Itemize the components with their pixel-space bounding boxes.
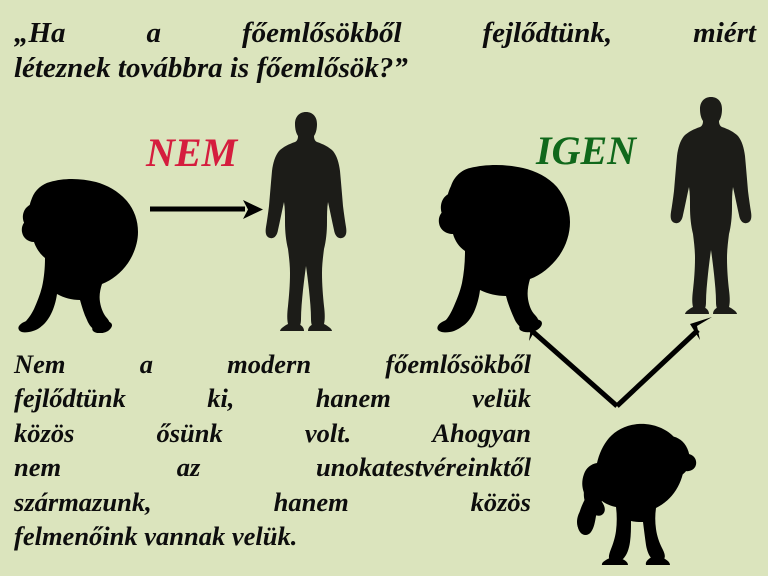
human-silhouette-left	[264, 110, 348, 332]
gorilla-silhouette-left	[12, 168, 148, 333]
body-line-4: nem az unokatestvéreinktől	[14, 450, 531, 484]
body-line-1: Nem a modern főemlősökből	[14, 347, 531, 381]
verdict-label-no: NEM	[146, 133, 237, 173]
body-line-2: fejlődtünk ki, hanem velük	[14, 381, 531, 415]
body-line-6: felmenőink vannak velük.	[14, 519, 531, 553]
title-line-2: léteznek továbbra is főemlősök?”	[14, 51, 756, 86]
body-paragraph: Nem a modern főemlősökből fejlődtünk ki,…	[14, 347, 531, 554]
body-line-3: közös ősünk volt. Ahogyan	[14, 416, 531, 450]
title-line-1: „Ha a főemlősökből fejlődtünk, miért	[14, 16, 756, 51]
infographic-poster: „Ha a főemlősökből fejlődtünk, miért lét…	[0, 0, 768, 576]
gorilla-silhouette-right	[428, 153, 576, 333]
page-title: „Ha a főemlősökből fejlődtünk, miért lét…	[14, 16, 756, 85]
human-silhouette-right	[668, 95, 754, 314]
common-ancestor-ape-silhouette	[576, 418, 700, 566]
arrow-gorilla-to-human-straight	[150, 200, 263, 219]
body-line-5: származunk, hanem közös	[14, 485, 531, 519]
arrow-ancestor-to-human-branch	[617, 317, 712, 406]
